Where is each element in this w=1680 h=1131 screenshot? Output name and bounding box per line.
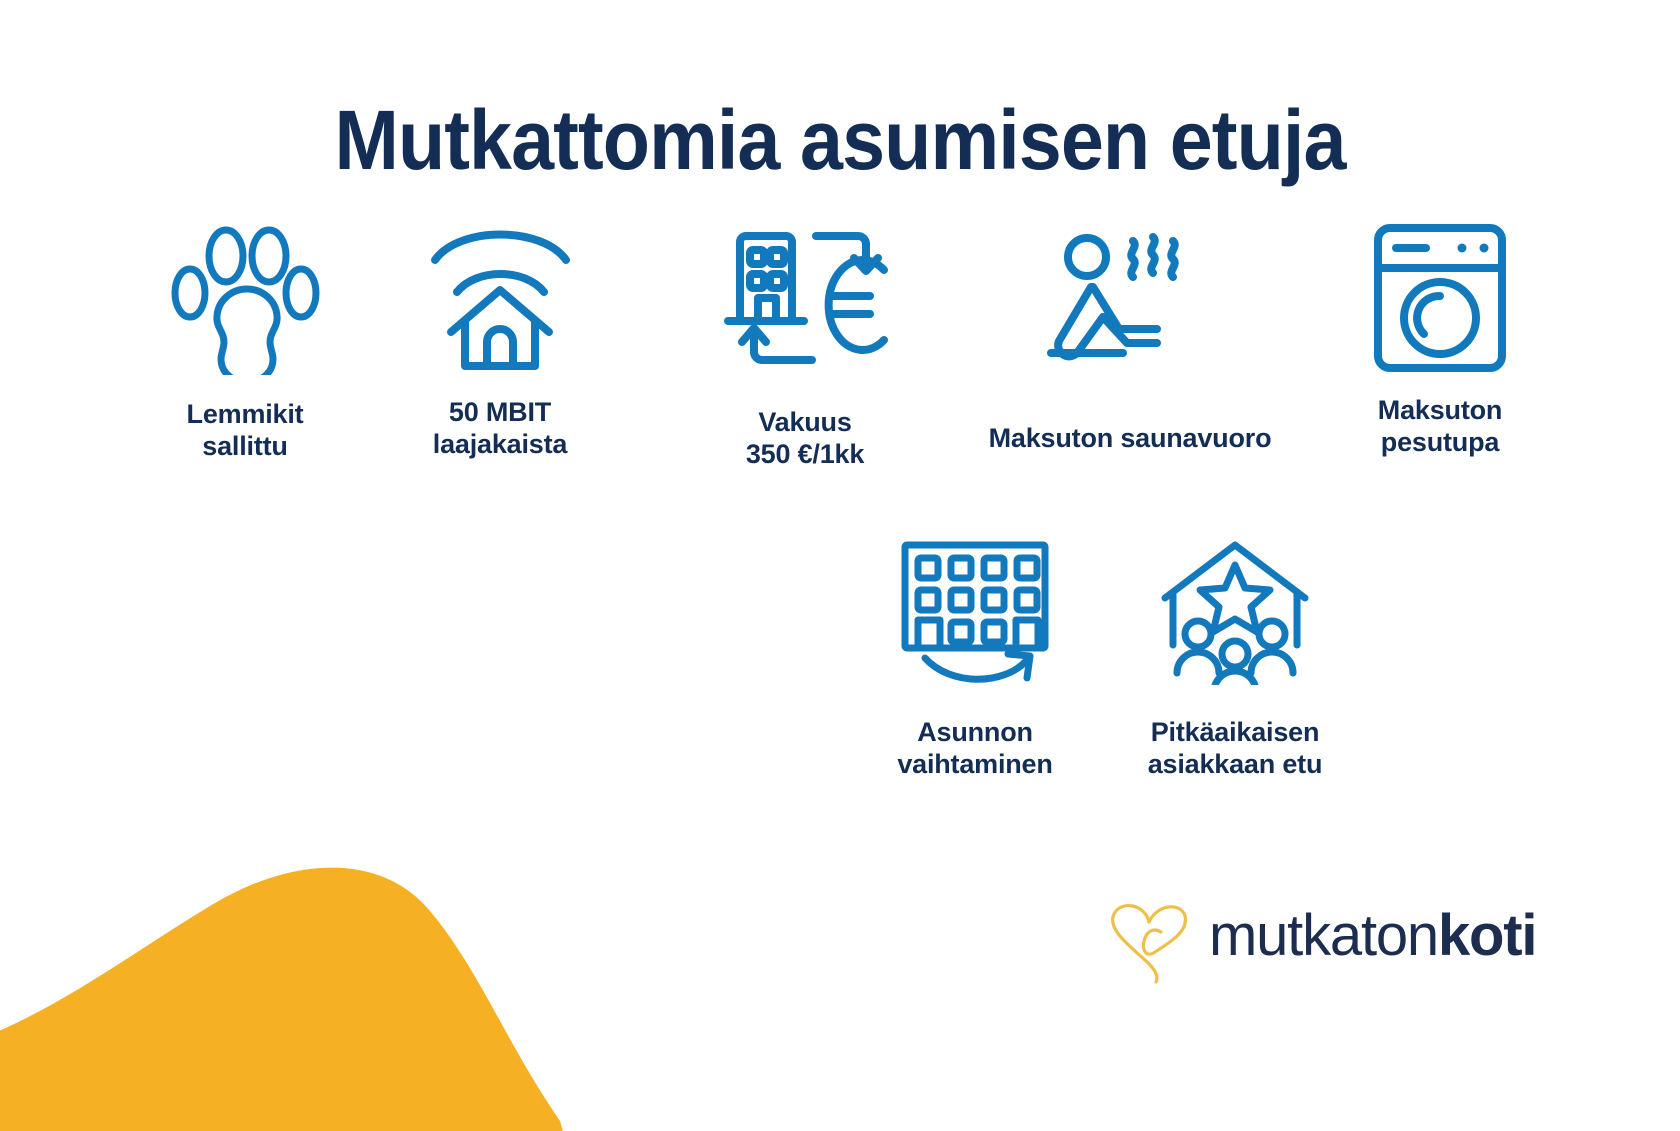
benefit-pets: Lemmikit sallittu: [125, 215, 365, 463]
benefits-row-bottom: Asunnon vaihtaminen: [845, 535, 1365, 781]
benefit-sauna: Maksuton saunavuoro: [965, 215, 1295, 455]
page-title: Mutkattomia asumisen etuja: [67, 96, 1613, 184]
benefit-deposit-caption: Vakuus 350 €/1kk: [746, 407, 864, 471]
sauna-bather-icon: [1045, 215, 1215, 375]
benefit-laundry: Maksuton pesutupa: [1305, 215, 1575, 459]
logo-wordmark: mutkatonkoti: [1209, 907, 1536, 965]
benefit-laundry-caption: Maksuton pesutupa: [1378, 395, 1502, 459]
benefit-broadband: 50 MBIT laajakaista: [375, 215, 625, 461]
benefit-broadband-caption: 50 MBIT laajakaista: [433, 397, 567, 461]
logo-word-light: mutkaton: [1209, 903, 1438, 968]
wifi-house-icon: [423, 215, 578, 375]
benefit-sauna-caption: Maksuton saunavuoro: [989, 423, 1272, 455]
benefit-deposit: Vakuus 350 €/1kk: [655, 215, 955, 471]
apartment-building-swap-icon: [900, 535, 1050, 685]
benefit-apartment-swap-caption: Asunnon vaihtaminen: [897, 717, 1052, 781]
building-euro-exchange-icon: [718, 215, 893, 375]
benefit-pets-caption: Lemmikit sallittu: [187, 399, 304, 463]
yellow-blob-decoration: [0, 791, 600, 1131]
benefit-apartment-swap: Asunnon vaihtaminen: [845, 535, 1105, 781]
benefits-row-top: Lemmikit sallittu 50 MBIT laajakaista: [120, 215, 1580, 471]
washing-machine-icon: [1370, 215, 1510, 375]
logo-word-bold: koti: [1438, 903, 1536, 968]
benefit-loyalty: Pitkäaikaisen asiakkaan etu: [1105, 535, 1365, 781]
brand-logo[interactable]: mutkatonkoti: [1105, 888, 1536, 984]
house-star-family-icon: [1155, 535, 1315, 685]
benefit-loyalty-caption: Pitkäaikaisen asiakkaan etu: [1148, 717, 1323, 781]
heart-swirl-icon: [1105, 888, 1193, 984]
paw-print-icon: [170, 215, 320, 375]
